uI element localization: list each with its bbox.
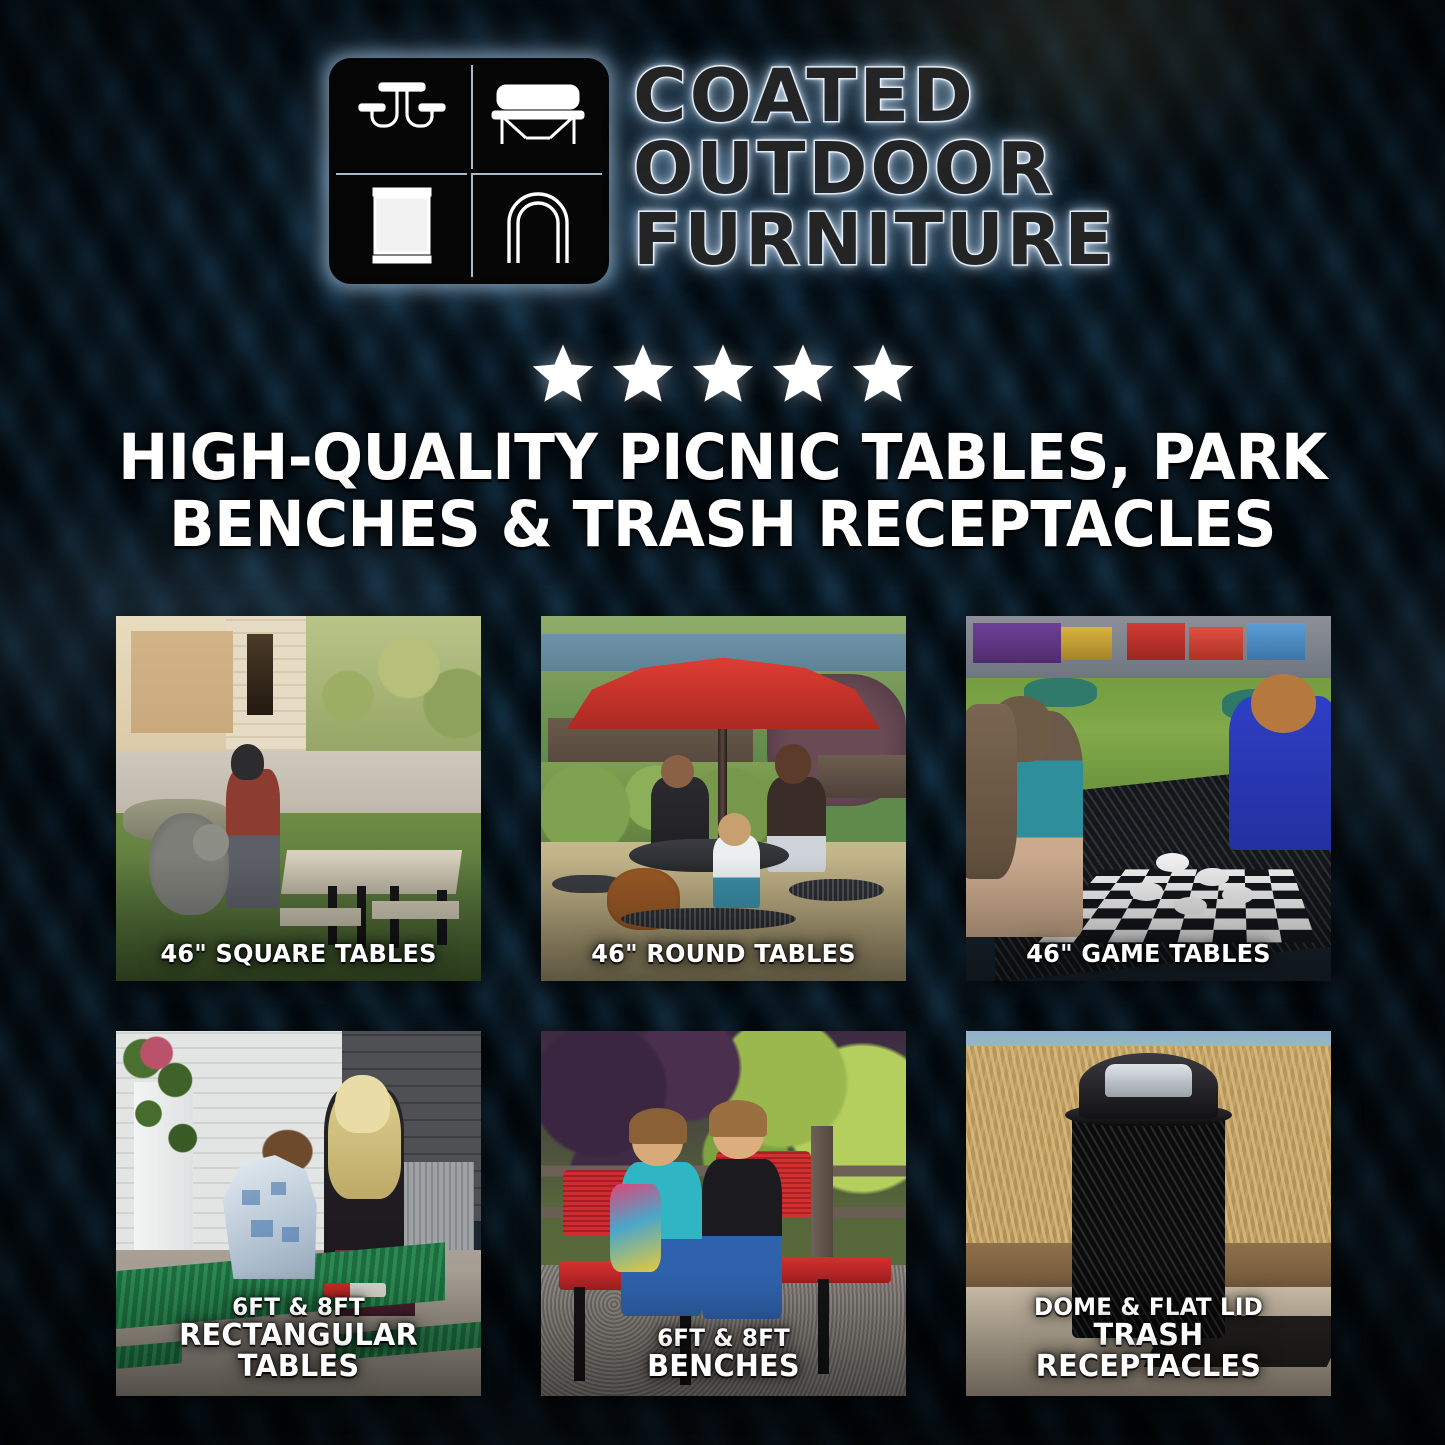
brand-lockup: COATED OUTDOOR FURNITURE bbox=[0, 58, 1445, 284]
product-caption-round-tables: 46" ROUND TABLES bbox=[548, 941, 898, 981]
product-tile-round-tables[interactable]: 46" ROUND TABLES bbox=[541, 616, 906, 981]
star-icon-4 bbox=[769, 340, 837, 406]
caption-line-1: 46" ROUND TABLES bbox=[556, 941, 891, 967]
star-icon-2 bbox=[609, 340, 677, 406]
picnic-table-front-icon bbox=[336, 65, 467, 169]
coated-outdoor-furniture-logo-icon bbox=[329, 58, 609, 284]
caption-line-1: 6FT & 8FT bbox=[131, 1295, 466, 1320]
product-caption-square-tables: 46" SQUARE TABLES bbox=[123, 941, 473, 981]
trash-receptacle-icon bbox=[336, 173, 467, 277]
star-rating bbox=[0, 340, 1445, 406]
brand-line-1: COATED bbox=[633, 62, 1116, 133]
product-caption-trash-receptacles: DOME & FLAT LID TRASH RECEPTACLES bbox=[973, 1295, 1323, 1396]
product-tile-benches[interactable]: 6FT & 8FT BENCHES bbox=[541, 1031, 906, 1396]
poster-content: COATED OUTDOOR FURNITURE HIGH-QUALITY PI… bbox=[0, 0, 1445, 1445]
headline: HIGH-QUALITY PICNIC TABLES, PARK BENCHES… bbox=[0, 424, 1445, 559]
product-tile-game-tables[interactable]: 46" GAME TABLES bbox=[966, 616, 1331, 981]
caption-line-1: 46" SQUARE TABLES bbox=[131, 941, 466, 967]
caption-line-2: TRASH RECEPTACLES bbox=[981, 1320, 1316, 1382]
product-caption-game-tables: 46" GAME TABLES bbox=[973, 941, 1323, 981]
headline-line-2: BENCHES & TRASH RECEPTACLES bbox=[93, 491, 1352, 558]
brand-line-3: FURNITURE bbox=[633, 206, 1116, 275]
bench-side-icon bbox=[471, 65, 602, 169]
product-caption-benches: 6FT & 8FT BENCHES bbox=[548, 1326, 898, 1396]
star-icon-3 bbox=[689, 340, 757, 406]
product-tile-trash-receptacles[interactable]: DOME & FLAT LID TRASH RECEPTACLES bbox=[966, 1031, 1331, 1396]
caption-line-1: 46" GAME TABLES bbox=[981, 941, 1316, 967]
caption-line-1: 6FT & 8FT bbox=[556, 1326, 891, 1351]
brand-line-2: OUTDOOR bbox=[633, 135, 1116, 204]
star-icon-1 bbox=[529, 340, 597, 406]
bike-rack-arch-icon bbox=[471, 173, 602, 277]
headline-line-1: HIGH-QUALITY PICNIC TABLES, PARK bbox=[93, 424, 1352, 491]
product-tile-square-tables[interactable]: 46" SQUARE TABLES bbox=[116, 616, 481, 981]
star-icon-5 bbox=[849, 340, 917, 406]
product-caption-rectangular-tables: 6FT & 8FT RECTANGULAR TABLES bbox=[123, 1295, 473, 1396]
product-tile-rectangular-tables[interactable]: 6FT & 8FT RECTANGULAR TABLES bbox=[116, 1031, 481, 1396]
caption-line-2: BENCHES bbox=[556, 1351, 891, 1382]
brand-wordmark: COATED OUTDOOR FURNITURE bbox=[633, 58, 1116, 275]
product-grid: 46" SQUARE TABLES 46" ROUND TABLES bbox=[116, 616, 1331, 1396]
caption-line-2: RECTANGULAR TABLES bbox=[131, 1320, 466, 1382]
caption-line-1: DOME & FLAT LID bbox=[981, 1295, 1316, 1320]
